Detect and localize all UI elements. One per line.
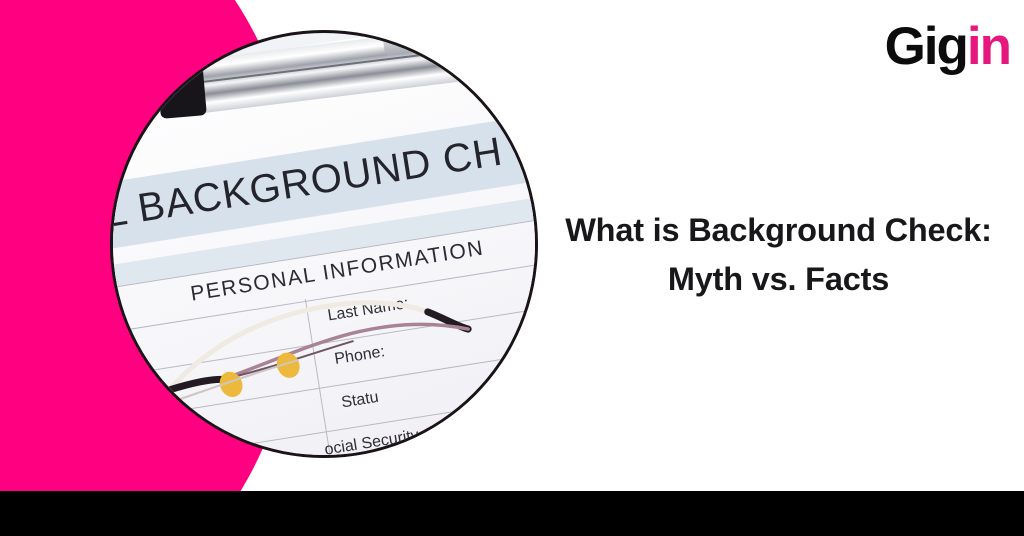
headline-line-1: What is Background Check: — [533, 206, 1024, 255]
banner-headline: What is Background Check: Myth vs. Facts — [533, 206, 1024, 304]
logo-text-gig: Gig — [885, 17, 967, 76]
gigin-logo[interactable]: Gigin — [885, 20, 1010, 73]
headline-line-2: Myth vs. Facts — [533, 255, 1024, 304]
photo-inner: INAL BACKGROUND CH PERSONAL INFORMATION … — [113, 33, 535, 455]
background-check-photo: INAL BACKGROUND CH PERSONAL INFORMATION … — [113, 33, 535, 455]
clip-metal-bar — [177, 33, 535, 115]
form-column-divider — [113, 288, 152, 455]
clip-cap-left — [157, 63, 207, 119]
logo-text-in: in — [967, 17, 1010, 76]
bottom-black-bar — [0, 491, 1024, 536]
blog-banner: INAL BACKGROUND CH PERSONAL INFORMATION … — [0, 0, 1024, 536]
